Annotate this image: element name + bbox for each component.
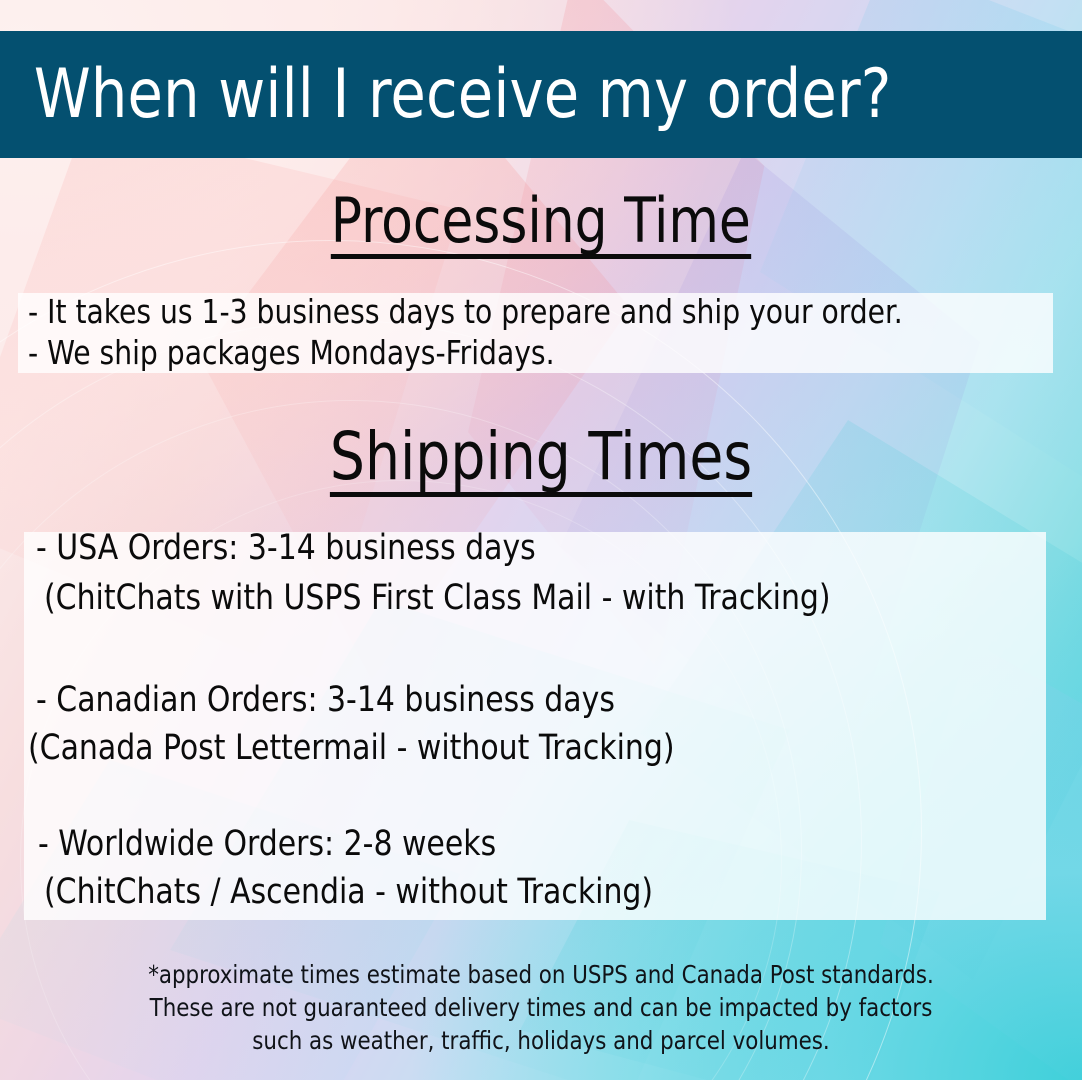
shipping-entry-usa-detail: (ChitChats with USPS First Class Mail - … (44, 578, 831, 619)
footnote-line-3: such as weather, traffic, holidays and p… (27, 1024, 1055, 1057)
shipping-info-graphic: When will I receive my order? Processing… (0, 0, 1082, 1080)
page-title: When will I receive my order? (0, 61, 891, 129)
shipping-entry-worldwide-detail: (ChitChats / Ascendia - without Tracking… (44, 872, 653, 913)
shipping-entry-canada-title: - Canadian Orders: 3-14 business days (36, 680, 615, 721)
section-heading-processing-time-label: Processing Time (331, 190, 751, 259)
shipping-entry-worldwide-title: - Worldwide Orders: 2-8 weeks (38, 824, 496, 865)
section-heading-processing-time: Processing Time (0, 190, 1082, 259)
footnote-line-1: *approximate times estimate based on USP… (27, 958, 1055, 991)
shipping-entry-usa-title: - USA Orders: 3-14 business days (36, 528, 536, 569)
section-heading-shipping-times: Shipping Times (0, 424, 1082, 497)
processing-time-line-1: - It takes us 1-3 business days to prepa… (28, 293, 903, 332)
footnote-disclaimer: *approximate times estimate based on USP… (0, 958, 1082, 1057)
shipping-entry-canada-detail: (Canada Post Lettermail - without Tracki… (28, 728, 675, 769)
footnote-line-2: These are not guaranteed delivery times … (27, 991, 1055, 1024)
header-banner: When will I receive my order? (0, 31, 1082, 158)
processing-time-line-2: - We ship packages Mondays-Fridays. (28, 334, 555, 373)
section-heading-shipping-times-label: Shipping Times (330, 424, 752, 497)
